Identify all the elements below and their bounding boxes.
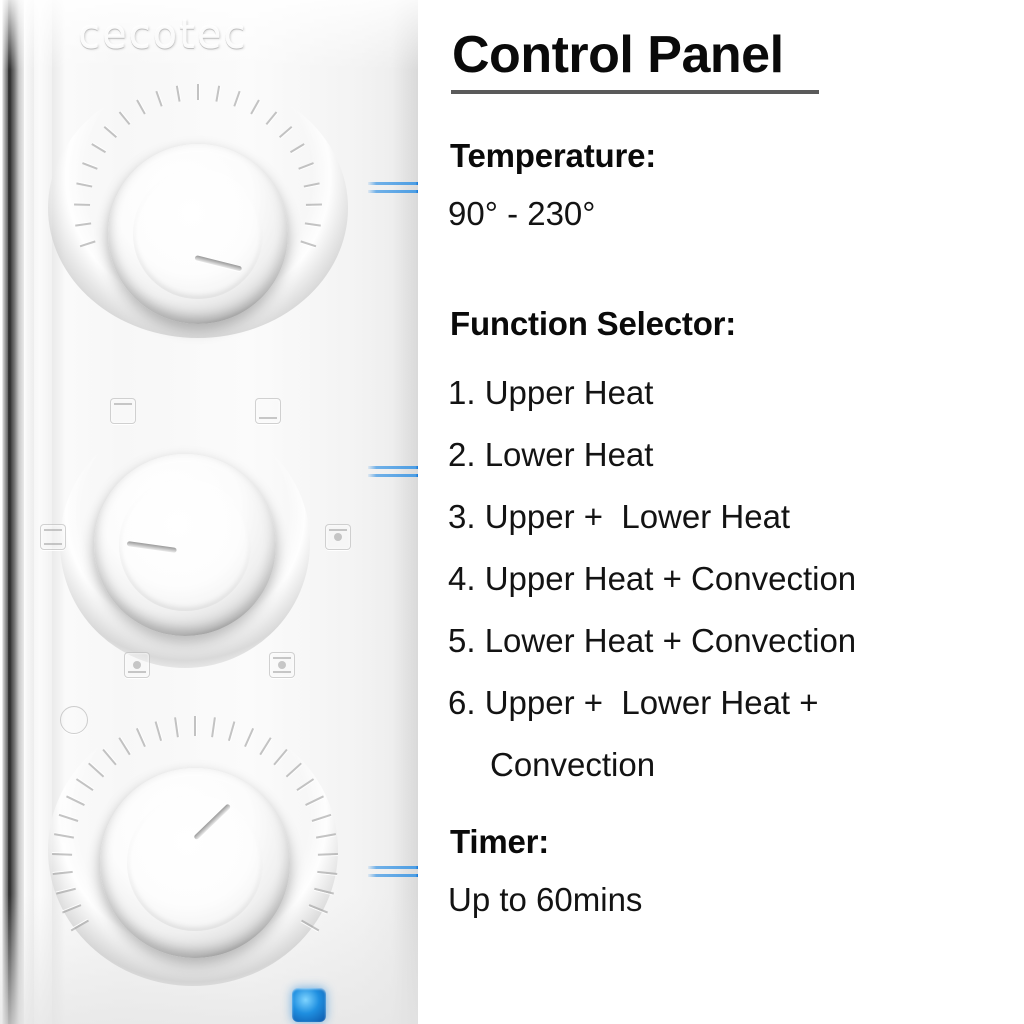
dial-tick	[300, 240, 316, 247]
function-selector-knob-pointer	[127, 541, 177, 553]
temperature-value: 90° - 230°	[448, 195, 596, 233]
dial-tick	[317, 871, 337, 875]
dial-tick	[104, 126, 117, 138]
dial-tick	[279, 126, 292, 138]
function-selector-knob-face	[119, 479, 250, 610]
cecotec-brand-logo: cecotec	[78, 12, 328, 58]
dial-tick	[62, 904, 81, 913]
dial-tick	[305, 222, 321, 226]
upper-heat-icon	[110, 398, 136, 424]
lower-heat-icon	[255, 398, 281, 424]
dial-tick	[298, 162, 314, 170]
dial-tick	[88, 763, 104, 778]
list-item: 3. Upper + Lower Heat	[448, 486, 1008, 548]
dial-tick	[118, 737, 130, 755]
dial-tick	[119, 111, 131, 125]
page-title: Control Panel	[452, 28, 784, 83]
dial-tick	[102, 749, 116, 766]
power-indicator-lamp	[292, 988, 326, 1022]
dial-tick	[259, 737, 271, 755]
upper-lower-heat-convection-icon	[269, 652, 295, 678]
dial-tick	[197, 84, 199, 100]
dial-tick	[250, 100, 260, 115]
dial-tick	[75, 222, 91, 226]
door-edge-shadow	[8, 0, 12, 1024]
list-item: 5. Lower Heat + Convection	[448, 610, 1008, 672]
function-selector-knob-assembly[interactable]	[38, 396, 338, 676]
dial-tick	[306, 203, 322, 205]
dial-tick	[176, 86, 181, 102]
dial-tick	[76, 182, 92, 187]
dial-tick	[233, 91, 240, 107]
dial-tick	[53, 871, 73, 875]
temperature-heading: Temperature:	[450, 137, 656, 175]
function-selector-list: 1. Upper Heat 2. Lower Heat 3. Upper + L…	[448, 362, 1008, 796]
dial-tick	[266, 111, 278, 125]
dial-tick	[304, 182, 320, 187]
temperature-knob[interactable]	[108, 144, 288, 324]
dial-tick	[301, 920, 319, 932]
timer-knob-pointer	[193, 803, 231, 840]
dial-tick	[286, 763, 302, 778]
dial-tick	[155, 721, 162, 741]
dial-tick	[194, 716, 196, 736]
dial-tick	[215, 86, 220, 102]
list-item: 6. Upper + Lower Heat +	[448, 672, 1008, 734]
dial-tick	[54, 833, 74, 838]
timer-knob[interactable]	[100, 768, 290, 958]
dial-tick	[309, 904, 328, 913]
list-item: 2. Lower Heat	[448, 424, 1008, 486]
list-item-continuation-text: Convection	[448, 734, 1008, 796]
dial-tick	[80, 240, 96, 247]
dial-tick	[56, 888, 76, 895]
oven-control-panel-photo: cecotec	[0, 0, 418, 1024]
timer-value: Up to 60mins	[448, 881, 642, 919]
dial-tick	[174, 717, 179, 737]
dial-tick	[136, 100, 146, 115]
dial-tick	[136, 728, 146, 747]
dial-tick	[82, 162, 98, 170]
timer-knob-assembly[interactable]	[38, 700, 358, 1000]
function-selector-heading: Function Selector:	[450, 305, 736, 343]
dial-tick	[244, 728, 254, 747]
dial-tick	[66, 795, 85, 806]
screenshot-root: cecotec	[0, 0, 1024, 1024]
temperature-knob-pointer	[195, 255, 243, 271]
upper-heat-convection-icon	[325, 524, 351, 550]
dial-tick	[290, 143, 305, 153]
list-item-continuation: Convection	[448, 734, 1008, 796]
dial-tick	[296, 778, 314, 791]
dial-tick	[71, 920, 89, 932]
list-item: 1. Upper Heat	[448, 362, 1008, 424]
temperature-knob-face	[133, 169, 263, 299]
upper-lower-heat-icon	[40, 524, 66, 550]
dial-tick	[74, 203, 90, 205]
dial-tick	[59, 814, 79, 822]
dial-tick	[273, 749, 287, 766]
clock-icon	[60, 706, 88, 734]
dial-tick	[316, 833, 336, 838]
title-underline	[451, 90, 819, 94]
dial-tick	[305, 795, 324, 806]
list-item: 4. Upper Heat + Convection	[448, 548, 1008, 610]
dial-tick	[314, 888, 334, 895]
function-selector-knob[interactable]	[94, 454, 276, 636]
dial-tick	[228, 721, 235, 741]
dial-tick	[312, 814, 332, 822]
temperature-knob-assembly[interactable]	[48, 78, 348, 338]
dial-tick	[52, 853, 72, 856]
lower-heat-convection-icon	[124, 652, 150, 678]
timer-heading: Timer:	[450, 823, 549, 861]
control-panel-legend: Control Panel Temperature: 90° - 230° Fu…	[418, 0, 1024, 1024]
dial-tick	[318, 853, 338, 856]
door-edge-highlight	[24, 0, 34, 1024]
dial-tick	[91, 143, 106, 153]
dial-tick	[155, 91, 162, 107]
dial-tick	[211, 717, 216, 737]
timer-knob-face	[127, 795, 264, 932]
dial-tick	[76, 778, 94, 791]
